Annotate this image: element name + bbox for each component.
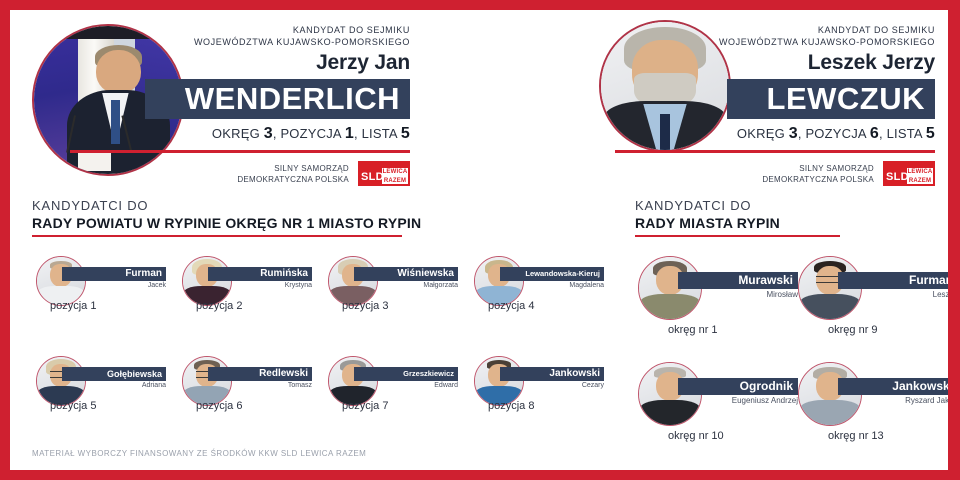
candidate-portrait [36,256,86,306]
lista-value: 5 [401,125,410,142]
hero-slogan-row: SILNY SAMORZĄD DEMOKRATYCZNA POLSKA SLD … [10,161,410,186]
funding-disclaimer: MATERIAŁ WYBORCZY FINANSOWANY ZE ŚRODKÓW… [32,449,366,458]
candidate-surname: Ogrodnik [678,378,798,395]
city-candidate-grid: MurawskiMirosławokręg nr 1FurmanLeszekok… [630,256,948,468]
candidate-position: okręg nr 13 [828,430,884,442]
pozycja-value: 6 [870,125,879,142]
portrait-illustration [475,257,523,305]
candidate-first-name: Tomasz [208,382,316,389]
hero-first-name: Jerzy Jan [10,51,410,75]
candidate-surname: Jankowski [838,378,948,395]
poster-inner: KANDYDAT DO SEJMIKU WOJEWÓDZTWA KUJAWSKO… [10,10,948,470]
portrait-illustration [37,257,85,305]
candidate-position: pozycja 3 [342,300,388,312]
portrait-illustration [329,257,377,305]
slogan-line1: SILNY SAMORZĄD [237,163,349,174]
hero-candidate-lewczuk: KANDYDAT DO SEJMIKU WOJEWÓDZTWA KUJAWSKO… [585,10,948,192]
portrait-illustration [475,357,523,405]
slogan-line2: DEMOKRATYCZNA POLSKA [237,174,349,185]
candidate-surname: Lewandowska-Kieruj [500,267,604,281]
candidate-portrait [328,256,378,306]
portrait-illustration [183,257,231,305]
candidate-surname: Grzeszkiewicz [354,367,458,381]
candidate-card[interactable]: Lewandowska-KierujMagdalenapozycja 4 [466,256,612,356]
lista-label: LISTA [887,126,922,141]
candidate-position: pozycja 6 [196,400,242,412]
hero-slogan: SILNY SAMORZĄD DEMOKRATYCZNA POLSKA [237,163,349,185]
candidate-surname: Redlewski [208,367,312,381]
portrait-illustration [329,357,377,405]
pozycja-label: POZYCJA [280,126,341,141]
okreg-label: OKRĘG [737,126,785,141]
candidate-first-name: Krystyna [208,282,316,289]
candidate-position: pozycja 7 [342,400,388,412]
portrait-illustration [37,357,85,405]
candidate-position: pozycja 1 [50,300,96,312]
sld-logo-sub2: RAZEM [907,177,933,186]
candidate-surname: Murawski [678,272,798,289]
candidate-card[interactable]: FurmanLeszekokręg nr 9 [790,256,948,362]
section-title: RADY MIASTA RYPIN [635,214,945,232]
sld-logo-box: LEWICA RAZEM [907,168,933,184]
hero-surname: LEWCZUK [727,79,935,119]
candidate-card[interactable]: GrzeszkiewiczEdwardpozycja 7 [320,356,466,456]
candidate-position: pozycja 8 [488,400,534,412]
candidate-surname: Jankowski [500,367,604,381]
hero-red-rule [70,150,410,153]
hero-kandydat-line1: KANDYDAT DO SEJMIKU [10,24,410,36]
hero-text-block: KANDYDAT DO SEJMIKU WOJEWÓDZTWA KUJAWSKO… [585,24,935,186]
candidate-surname: Rumińska [208,267,312,281]
sld-logo-sub2: RAZEM [382,177,408,186]
candidate-first-name: Mirosław [678,290,803,299]
candidate-surname: Wiśniewska [354,267,458,281]
hero-candidate-wenderlich: KANDYDAT DO SEJMIKU WOJEWÓDZTWA KUJAWSKO… [10,10,430,192]
candidate-card[interactable]: MurawskiMirosławokręg nr 1 [630,256,790,362]
okreg-value: 3 [789,125,798,142]
hero-kandydat-line1: KANDYDAT DO SEJMIKU [585,24,935,36]
sld-logo-sub1: LEWICA [382,168,408,177]
hero-slogan: SILNY SAMORZĄD DEMOKRATYCZNA POLSKA [762,163,874,185]
candidate-card[interactable]: JankowskiCezarypozycja 8 [466,356,612,456]
candidate-first-name: Leszek [838,290,948,299]
hero-surname: WENDERLICH [145,79,410,119]
candidate-position: okręg nr 9 [828,324,878,336]
slogan-line2: DEMOKRATYCZNA POLSKA [762,174,874,185]
hero-okreg-line: OKRĘG 3, POZYCJA 6, LISTA 5 [585,125,935,143]
candidate-position: okręg nr 10 [668,430,724,442]
candidate-surname: Furman [838,272,948,289]
sld-logo-main: SLD [886,172,909,183]
candidate-card[interactable]: WiśniewskaMałgorzatapozycja 3 [320,256,466,356]
candidate-first-name: Małgorzata [354,282,462,289]
hero-slogan-row: SILNY SAMORZĄD DEMOKRATYCZNA POLSKA SLD … [585,161,935,186]
candidate-first-name: Magdalena [500,282,608,289]
section-sub: KANDYDATCI DO [635,198,945,214]
candidate-position: pozycja 4 [488,300,534,312]
sld-logo: SLD LEWICA RAZEM [358,161,410,186]
county-candidate-grid: FurmanJacekpozycja 1RumińskaKrystynapozy… [28,256,612,456]
section-red-rule [635,235,840,237]
portrait-illustration [183,357,231,405]
okreg-label: OKRĘG [212,126,260,141]
candidate-card[interactable]: OgrodnikEugeniusz Andrzejokręg nr 10 [630,362,790,468]
candidate-surname: Furman [62,267,166,281]
sld-logo-sub1: LEWICA [907,168,933,177]
pozycja-value: 1 [345,125,354,142]
section-sub: KANDYDATCI DO [32,198,432,214]
candidate-portrait [328,356,378,406]
candidate-portrait [474,256,524,306]
section-title: RADY POWIATU W RYPINIE OKRĘG NR 1 MIASTO… [32,214,432,232]
candidate-portrait [182,256,232,306]
hero-kandydat-line2: WOJEWÓDZTWA KUJAWSKO-POMORSKIEGO [10,36,410,48]
campaign-poster: KANDYDAT DO SEJMIKU WOJEWÓDZTWA KUJAWSKO… [0,0,960,480]
sld-logo-main: SLD [361,172,384,183]
sld-logo-box: LEWICA RAZEM [382,168,408,184]
hero-okreg-line: OKRĘG 3, POZYCJA 1, LISTA 5 [10,125,410,143]
candidate-position: pozycja 5 [50,400,96,412]
candidate-card[interactable]: GołębiewskaAdrianapozycja 5 [28,356,174,456]
candidate-first-name: Eugeniusz Andrzej [678,396,803,405]
candidate-first-name: Jacek [62,282,170,289]
slogan-line1: SILNY SAMORZĄD [762,163,874,174]
candidate-portrait [474,356,524,406]
lista-value: 5 [926,125,935,142]
candidate-surname: Gołębiewska [62,367,166,381]
candidate-card[interactable]: JankowskiRyszard Jakubokręg nr 13 [790,362,948,468]
okreg-value: 3 [264,125,273,142]
candidate-first-name: Edward [354,382,462,389]
candidate-position: okręg nr 1 [668,324,718,336]
candidate-card[interactable]: RedlewskiTomaszpozycja 6 [174,356,320,456]
pozycja-label: POZYCJA [805,126,866,141]
sld-logo: SLD LEWICA RAZEM [883,161,935,186]
lista-label: LISTA [362,126,397,141]
candidate-portrait [182,356,232,406]
candidate-portrait [36,356,86,406]
section-heading-city: KANDYDATCI DO RADY MIASTA RYPIN [635,198,945,237]
candidate-card[interactable]: RumińskaKrystynapozycja 2 [174,256,320,356]
section-red-rule [32,235,402,237]
candidate-first-name: Adriana [62,382,170,389]
hero-kandydat-line2: WOJEWÓDZTWA KUJAWSKO-POMORSKIEGO [585,36,935,48]
candidate-position: pozycja 2 [196,300,242,312]
candidate-card[interactable]: FurmanJacekpozycja 1 [28,256,174,356]
section-heading-county: KANDYDATCI DO RADY POWIATU W RYPINIE OKR… [32,198,432,237]
candidate-first-name: Cezary [500,382,608,389]
hero-text-block: KANDYDAT DO SEJMIKU WOJEWÓDZTWA KUJAWSKO… [10,24,410,186]
hero-red-rule [615,150,935,153]
candidate-first-name: Ryszard Jakub [838,396,948,405]
hero-first-name: Leszek Jerzy [585,51,935,75]
